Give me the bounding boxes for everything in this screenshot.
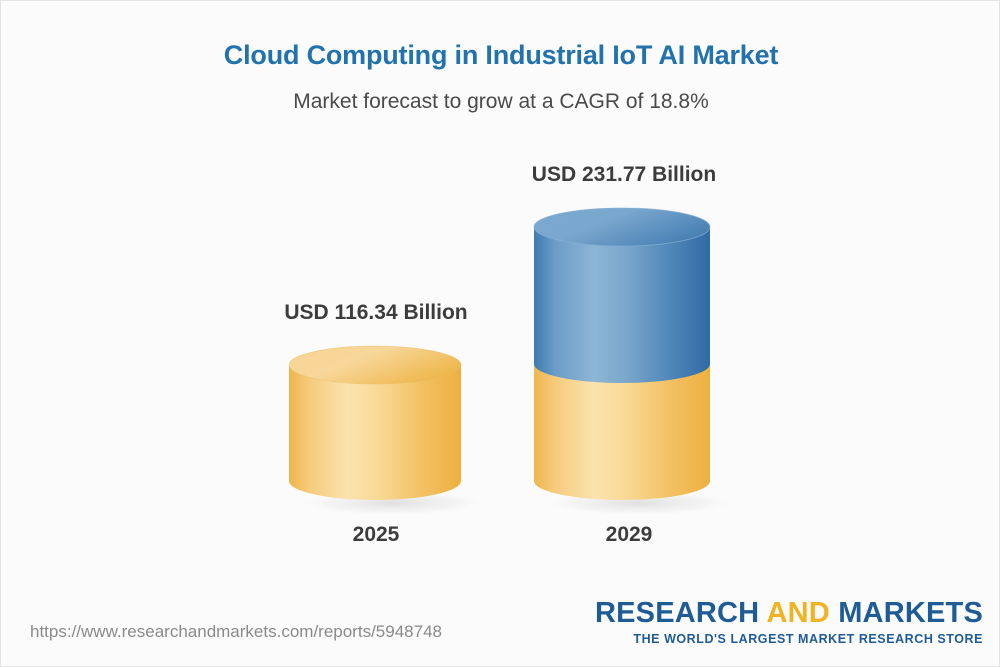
brand-word-markets: MARKETS <box>838 597 983 629</box>
brand-logo[interactable]: RESEARCH AND MARKETS THE WORLD'S LARGEST… <box>595 599 983 646</box>
cylinder-2025-svg <box>284 338 479 518</box>
brand-space-2 <box>830 597 838 629</box>
bar-cylinder-2029[interactable] <box>529 200 729 518</box>
brand-wordmark: RESEARCH AND MARKETS <box>595 599 983 628</box>
cylinder-body-segment-base-2029 <box>534 364 710 500</box>
chart-title: Cloud Computing in Industrial IoT AI Mar… <box>1 40 1000 71</box>
cylinder-2029-svg <box>529 200 729 518</box>
plot-area: USD 116.34 Billion <box>1 131 1000 561</box>
brand-tagline: THE WORLD'S LARGEST MARKET RESEARCH STOR… <box>595 632 983 646</box>
brand-word-and: AND <box>767 597 830 629</box>
brand-word-research: RESEARCH <box>595 597 759 629</box>
chart-card: Cloud Computing in Industrial IoT AI Mar… <box>0 0 1000 667</box>
chart-subtitle: Market forecast to grow at a CAGR of 18.… <box>1 90 1000 114</box>
value-label-2025: USD 116.34 Billion <box>176 301 576 325</box>
category-label-2029: 2029 <box>439 523 819 547</box>
bar-cylinder-2025[interactable] <box>284 338 479 518</box>
source-url[interactable]: https://www.researchandmarkets.com/repor… <box>30 622 442 642</box>
brand-space-1 <box>759 597 766 629</box>
value-label-2029: USD 231.77 Billion <box>424 163 824 187</box>
